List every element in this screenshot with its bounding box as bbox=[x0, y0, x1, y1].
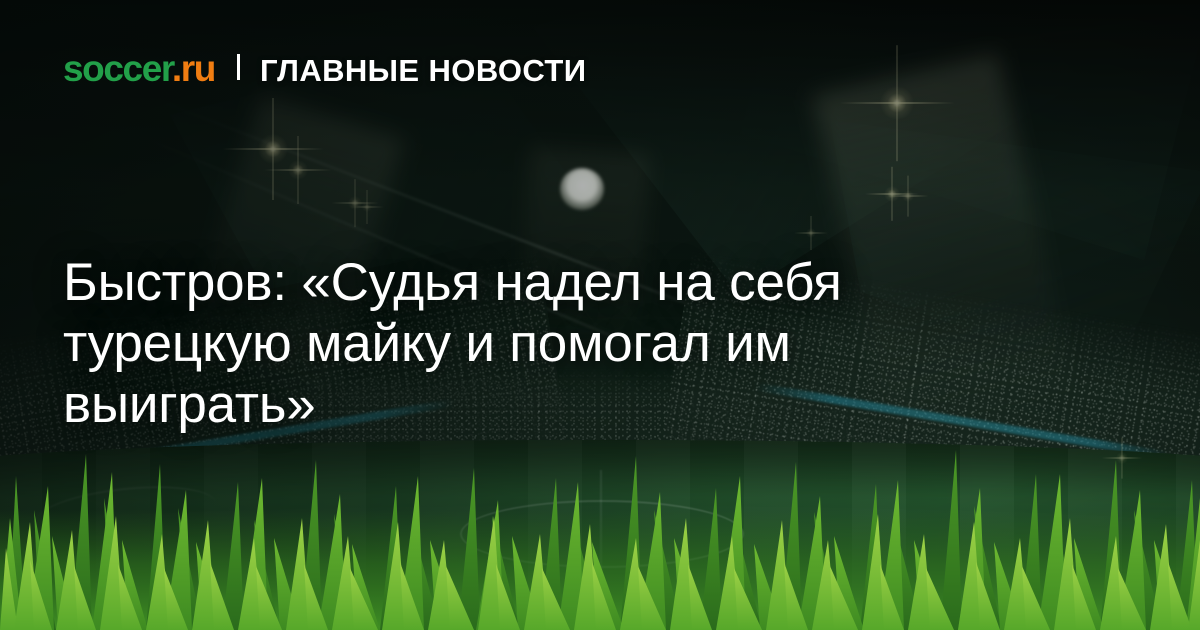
article-headline: Быстров: «Судья надел на себя турецкую м… bbox=[63, 252, 1043, 435]
logo-text-ru: .ru bbox=[172, 48, 215, 89]
soccer-ru-logo[interactable]: soccer.ru bbox=[63, 50, 215, 87]
section-title: ГЛАВНЫЕ НОВОСТИ bbox=[260, 55, 586, 86]
brand-header: soccer.ru ГЛАВНЫЕ НОВОСТИ bbox=[63, 50, 586, 87]
logo-text-soccer: soccer bbox=[63, 48, 172, 89]
share-card: soccer.ru ГЛАВНЫЕ НОВОСТИ Быстров: «Судь… bbox=[0, 0, 1200, 630]
header-separator-icon bbox=[237, 54, 240, 80]
